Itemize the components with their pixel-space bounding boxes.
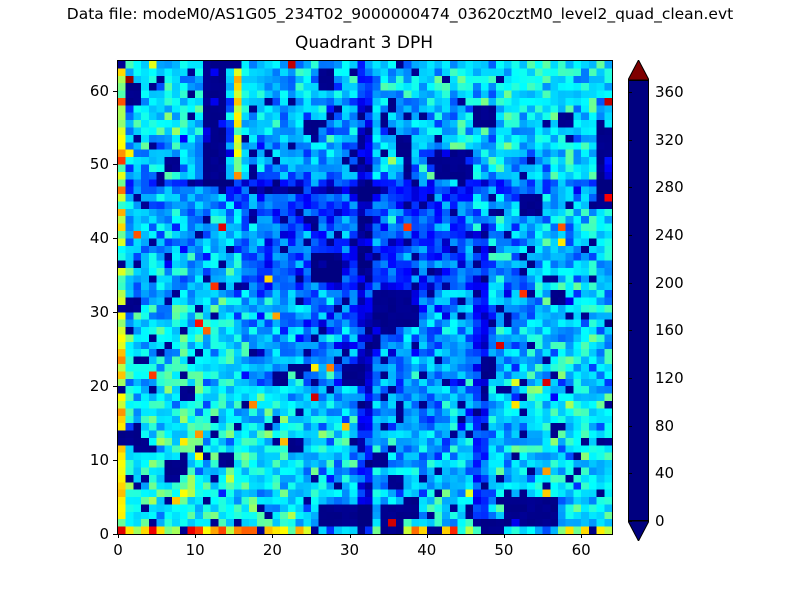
x-tick-label: 10: [186, 541, 205, 559]
y-tick-label: 60: [57, 82, 109, 100]
y-tick-label: 20: [57, 377, 109, 395]
colorbar-tick-label: 360: [655, 83, 684, 101]
y-tick-mark: [113, 164, 117, 165]
colorbar-tick-mark: [628, 473, 632, 474]
colorbar-tick-mark: [628, 378, 632, 379]
colorbar-tick-label: 240: [655, 226, 684, 244]
figure-suptitle: Data file: modeM0/AS1G05_234T02_90000004…: [0, 5, 800, 23]
y-tick-label: 40: [57, 229, 109, 247]
x-tick-label: 30: [340, 541, 359, 559]
y-tick-mark: [113, 534, 117, 535]
y-tick-label: 30: [57, 303, 109, 321]
x-tick-label: 40: [417, 541, 436, 559]
colorbar-tick-label: 120: [655, 369, 684, 387]
colorbar-tick-label: 280: [655, 178, 684, 196]
x-tick-label: 50: [494, 541, 513, 559]
x-tick-mark: [350, 534, 351, 538]
colorbar-tick-label: 40: [655, 464, 674, 482]
y-tick-label: 10: [57, 451, 109, 469]
colorbar[interactable]: 04080120160200240280320360: [628, 60, 649, 541]
figure-canvas: Data file: modeM0/AS1G05_234T02_90000004…: [0, 0, 800, 600]
x-tick-mark: [272, 534, 273, 538]
colorbar-tick-label: 200: [655, 274, 684, 292]
colorbar-tick-mark: [628, 187, 632, 188]
x-tick-mark: [581, 534, 582, 538]
colorbar-gradient: [629, 81, 648, 520]
y-tick-mark: [113, 238, 117, 239]
colorbar-tick-mark: [628, 92, 632, 93]
colorbar-tick-mark: [628, 521, 632, 522]
y-tick-label: 0: [57, 525, 109, 543]
colorbar-tick-label: 320: [655, 131, 684, 149]
colorbar-gradient-body[interactable]: [628, 80, 649, 521]
x-tick-mark: [118, 534, 119, 538]
colorbar-tick-mark: [628, 235, 632, 236]
x-tick-label: 0: [113, 541, 123, 559]
colorbar-tick-mark: [628, 426, 632, 427]
colorbar-tick-label: 80: [655, 417, 674, 435]
x-tick-mark: [504, 534, 505, 538]
x-tick-label: 60: [572, 541, 591, 559]
y-tick-mark: [113, 460, 117, 461]
x-tick-label: 20: [263, 541, 282, 559]
colorbar-tick-mark: [628, 283, 632, 284]
colorbar-extend-bottom-arrow: [628, 521, 649, 541]
x-tick-mark: [195, 534, 196, 538]
y-tick-mark: [113, 386, 117, 387]
colorbar-tick-mark: [628, 330, 632, 331]
y-tick-mark: [113, 312, 117, 313]
colorbar-tick-label: 160: [655, 321, 684, 339]
plot-title: Quadrant 3 DPH: [117, 33, 611, 53]
colorbar-tick-label: 0: [655, 512, 665, 530]
heatmap-axes[interactable]: [117, 60, 613, 535]
y-tick-label: 50: [57, 155, 109, 173]
x-tick-mark: [427, 534, 428, 538]
colorbar-extend-top-arrow: [628, 60, 649, 80]
heatmap-image[interactable]: [118, 61, 612, 534]
colorbar-tick-mark: [628, 140, 632, 141]
y-tick-mark: [113, 91, 117, 92]
